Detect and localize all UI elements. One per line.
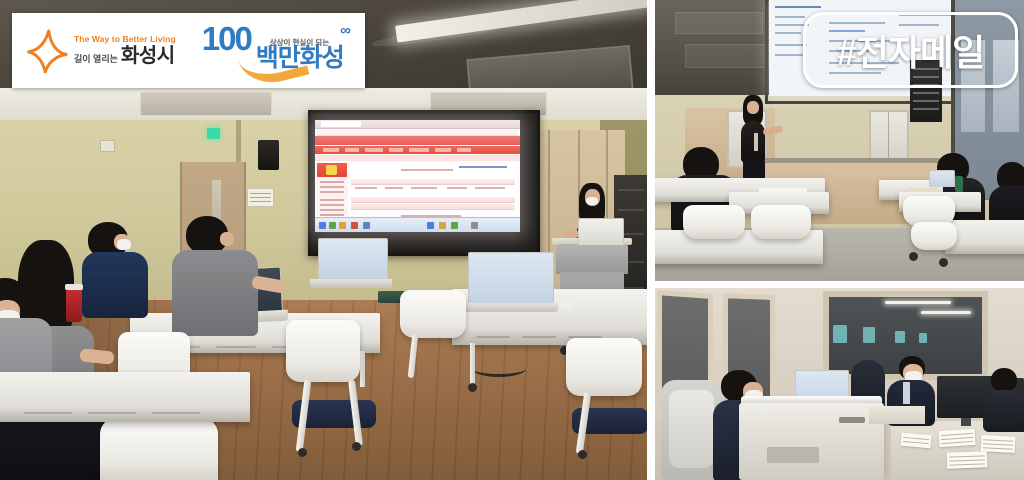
desk-caster	[468, 383, 477, 392]
wall-notice	[247, 188, 274, 207]
chair	[751, 205, 811, 239]
city-ci-text: The Way to Better Living 길이 열리는 화성시	[74, 35, 176, 67]
chair	[683, 205, 745, 239]
laptop-base	[310, 279, 392, 288]
photo-office-workstations	[655, 288, 1024, 480]
desk-leg	[470, 343, 475, 385]
campaign-logo: 100 ∞ 상상이 현실이 되는 백만화성	[198, 20, 365, 82]
podium-laptop-screen	[578, 218, 624, 245]
chair	[566, 338, 642, 396]
hwaseong-ci-mark-icon	[26, 29, 68, 73]
wall-speaker-icon	[258, 140, 279, 170]
portal-sidebar	[317, 163, 347, 216]
panel-gutter-vertical	[647, 0, 655, 480]
document	[900, 433, 931, 449]
floor-cable	[472, 360, 526, 377]
laptop-base	[462, 303, 558, 312]
paper-stack	[759, 188, 807, 193]
monitor-stand	[961, 418, 971, 426]
chair-caster	[939, 258, 948, 267]
panel-gutter-horizontal	[647, 281, 1024, 288]
projection-screen	[315, 120, 520, 232]
office-chair-cushion	[669, 390, 714, 468]
desk-leg	[360, 351, 365, 387]
city-korean-name: 화성시	[121, 46, 175, 66]
paper-stack	[907, 188, 937, 192]
laptop-screen	[929, 170, 955, 187]
laptop-screen	[468, 252, 554, 305]
mouse	[560, 300, 573, 309]
document	[947, 451, 988, 468]
multifunction-printer	[739, 403, 884, 480]
chair	[100, 418, 218, 480]
city-korean-slogan: 길이 열리는	[74, 55, 118, 64]
portal-content	[349, 163, 517, 216]
city-logo-box: The Way to Better Living 길이 열리는 화성시 100 …	[12, 13, 365, 88]
document	[981, 435, 1016, 453]
tumbler	[66, 288, 82, 322]
chair	[400, 290, 466, 338]
tumbler-lid	[65, 284, 83, 290]
ceiling-tile	[675, 12, 763, 34]
infinity-icon: ∞	[340, 22, 351, 39]
chair	[286, 320, 360, 382]
ceiling-panel	[140, 92, 272, 116]
desk	[869, 406, 925, 424]
hashtag-badge: #전자메일	[803, 12, 1018, 88]
city-ci: The Way to Better Living 길이 열리는 화성시	[12, 29, 176, 73]
desk	[0, 372, 250, 422]
campaign-brand: 백만화성	[256, 46, 344, 71]
city-english-slogan: The Way to Better Living	[74, 35, 176, 44]
screenshot-root: The Way to Better Living 길이 열리는 화성시 100 …	[0, 0, 1024, 480]
tumbler	[955, 176, 963, 192]
chair	[911, 222, 957, 250]
counter-top	[763, 158, 953, 163]
chair-caster	[298, 448, 307, 457]
laptop-screen	[318, 238, 388, 281]
taskbar	[315, 217, 520, 232]
exit-sign-icon	[207, 128, 220, 139]
chair-caster	[352, 442, 361, 451]
chair-caster	[578, 450, 587, 459]
document	[938, 429, 975, 447]
wall-control-box	[100, 140, 115, 152]
chair-caster	[909, 252, 918, 261]
hashtag-label: #전자메일	[837, 24, 985, 76]
